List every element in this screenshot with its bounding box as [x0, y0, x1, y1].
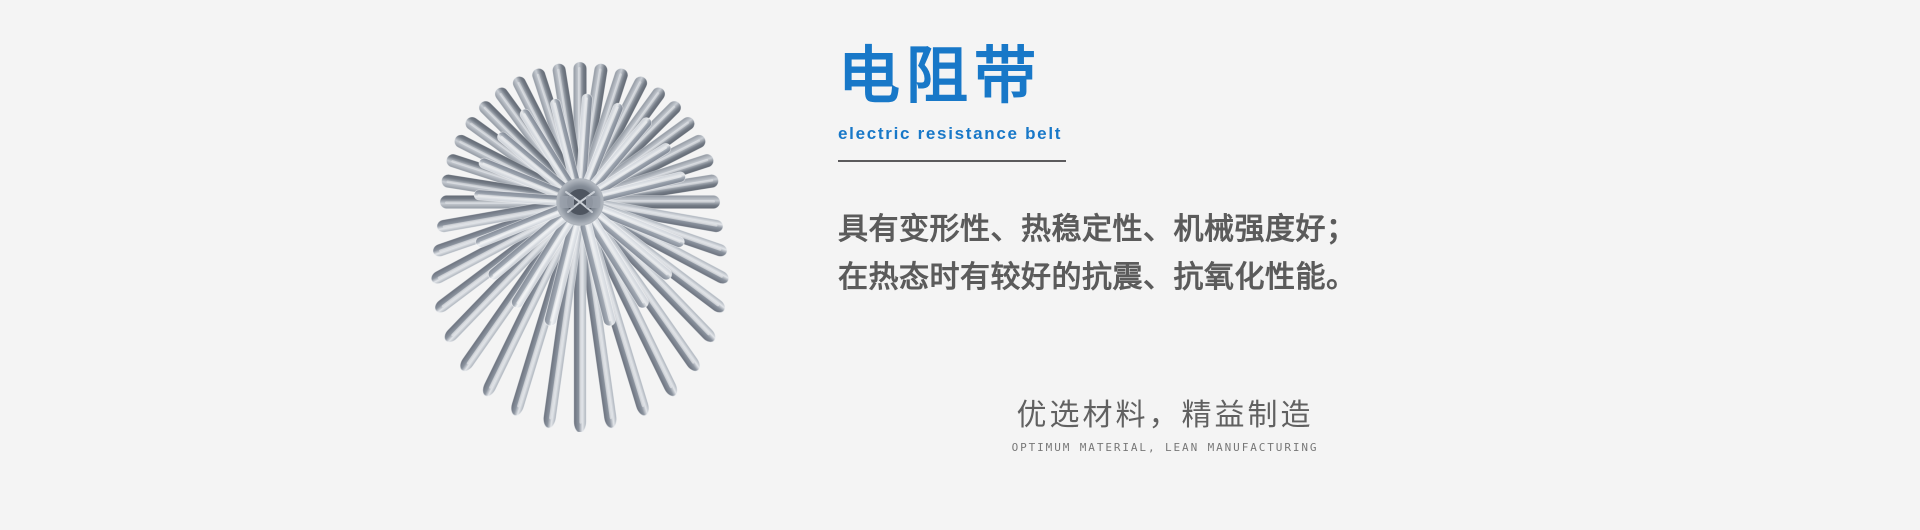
title-divider	[838, 160, 1066, 162]
page-title: 电阻带	[838, 40, 1598, 112]
resistance-belt-bundle-icon	[368, 52, 798, 432]
description-line-2: 在热态时有较好的抗震、抗氧化性能。	[838, 254, 1598, 302]
slogan-chinese: 优选材料，精益制造	[955, 398, 1375, 434]
description-line-1: 具有变形性、热稳定性、机械强度好；	[838, 206, 1598, 254]
page-subtitle: electric resistance belt	[838, 124, 1598, 144]
product-banner: 电阻带 radial coiled resistance ribbon bund…	[0, 0, 1920, 530]
hero-text-column: 电阻带 electric resistance belt 具有变形性、热稳定性、…	[838, 40, 1598, 302]
slogan-english: OPTIMUM MATERIAL, LEAN MANUFACTURING	[955, 441, 1375, 454]
product-image: 电阻带 radial coiled resistance ribbon bund…	[368, 52, 798, 432]
slogan-block: 优选材料，精益制造 OPTIMUM MATERIAL, LEAN MANUFAC…	[955, 398, 1375, 454]
product-description: 具有变形性、热稳定性、机械强度好； 在热态时有较好的抗震、抗氧化性能。	[838, 206, 1598, 302]
